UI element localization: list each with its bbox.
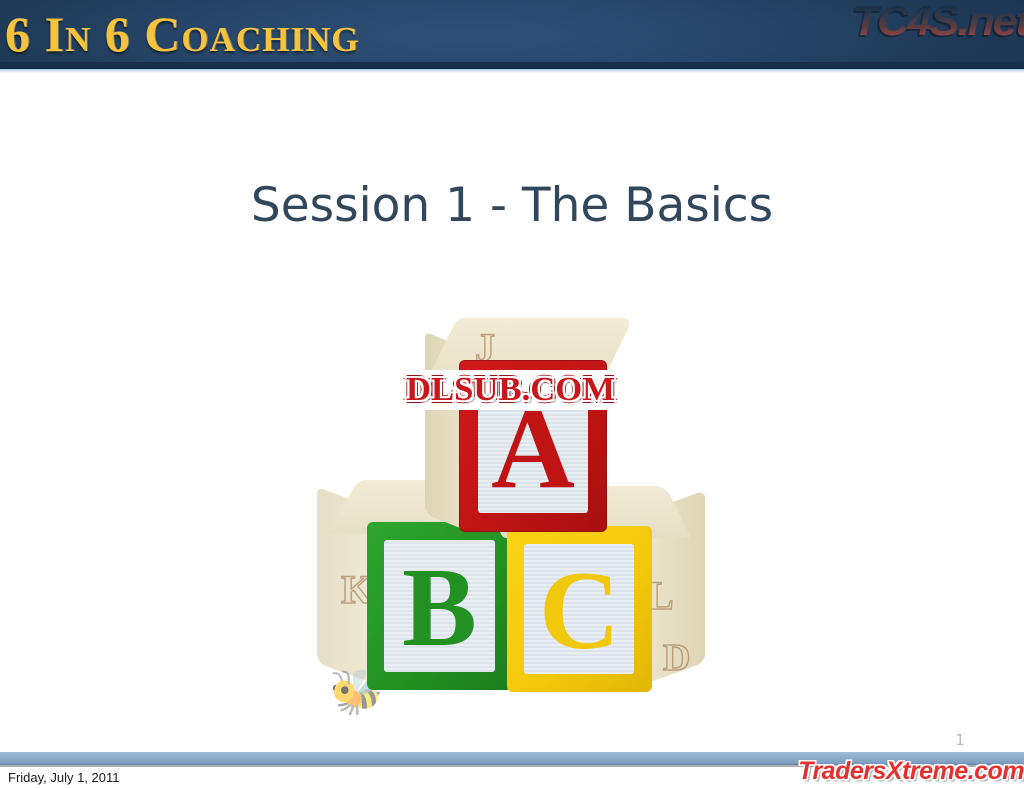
page-number: 1 [940, 731, 980, 749]
presentation-slide: 6 In 6 Coaching TC4S.net TC4S.net Sessio… [0, 0, 1024, 788]
block-c-etch-side: D [663, 636, 690, 680]
slide-title: Session 1 - The Basics [0, 176, 1024, 236]
header-underline-divider [0, 69, 1024, 73]
brand-logo-tc4s: TC4S.net [852, 0, 1024, 44]
header-title: 6 In 6 Coaching [5, 6, 359, 62]
dlsub-watermark-text: DLSUB.COM [405, 373, 614, 407]
tradersxtreme-watermark: TradersXtreme.com [798, 757, 1024, 785]
footer-date: Friday, July 1, 2011 [8, 770, 120, 786]
block-a-red: J A [423, 318, 613, 558]
dlsub-watermark: DLSUB.COM [369, 370, 651, 410]
header-banner: 6 In 6 Coaching TC4S.net TC4S.net [0, 0, 1024, 69]
